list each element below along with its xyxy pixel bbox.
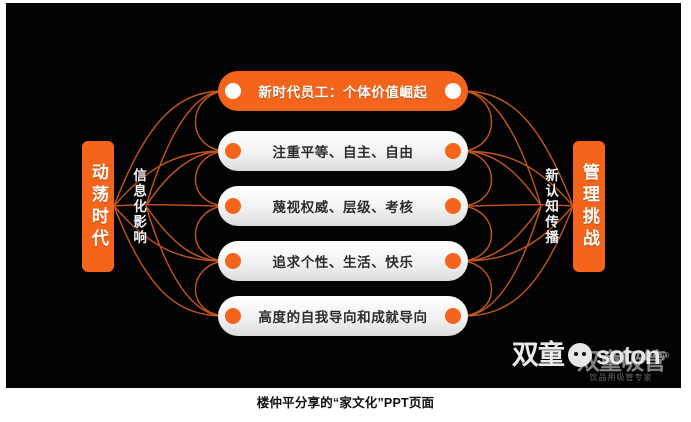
twin-kids-logo-icon xyxy=(568,343,592,367)
page-root: 动荡时代 信息化影响 新时代员工：个体价值崛起 注重平等、自主、自由 蔑视权威、… xyxy=(0,0,691,422)
pill-right-dot-icon xyxy=(445,83,461,99)
pill-left-dot-icon xyxy=(225,143,241,159)
pill-label: 追求个性、生活、快乐 xyxy=(218,251,468,271)
pill-row[interactable]: 注重平等、自主、自由 xyxy=(218,131,468,171)
slide-canvas: 动荡时代 信息化影响 新时代员工：个体价值崛起 注重平等、自主、自由 蔑视权威、… xyxy=(6,3,681,388)
registered-trademark-icon: ® xyxy=(663,351,669,360)
pill-left-dot-icon xyxy=(225,308,241,324)
pill-label: 高度的自我导向和成就导向 xyxy=(218,306,468,326)
brand-logo: 双童 soton ® xyxy=(512,332,669,378)
pill-left-dot-icon xyxy=(225,253,241,269)
right-flow-caption: 新认知传播 xyxy=(538,131,562,283)
pill-right-dot-icon xyxy=(445,198,461,214)
brand-logo-cn: 双童 xyxy=(512,342,564,369)
pill-left-dot-icon xyxy=(225,83,241,99)
pill-row[interactable]: 蔑视权威、层级、考核 xyxy=(218,186,468,226)
pill-row[interactable]: 追求个性、生活、快乐 xyxy=(218,241,468,281)
pill-left-dot-icon xyxy=(225,198,241,214)
pill-row[interactable]: 新时代员工：个体价值崛起 xyxy=(218,71,468,111)
right-flow-caption-label: 新认知传播 xyxy=(543,168,557,246)
pill-right-dot-icon xyxy=(445,308,461,324)
right-challenge-box-label: 管理挑战 xyxy=(580,163,598,251)
right-challenge-box[interactable]: 管理挑战 xyxy=(573,141,605,272)
pill-label: 注重平等、自主、自由 xyxy=(218,141,468,161)
left-driver-box-label: 动荡时代 xyxy=(89,163,107,251)
pill-right-dot-icon xyxy=(445,253,461,269)
figure-caption: 楼仲平分享的“家文化”PPT页面 xyxy=(0,392,691,411)
pill-label: 蔑视权威、层级、考核 xyxy=(218,196,468,216)
left-driver-box[interactable]: 动荡时代 xyxy=(82,141,114,272)
pill-label: 新时代员工：个体价值崛起 xyxy=(218,81,468,101)
brand-logo-en: soton xyxy=(596,342,659,368)
pill-right-dot-icon xyxy=(445,143,461,159)
left-flow-caption: 信息化影响 xyxy=(126,131,150,283)
pill-row[interactable]: 高度的自我导向和成就导向 xyxy=(218,296,468,336)
left-flow-caption-label: 信息化影响 xyxy=(131,168,145,246)
